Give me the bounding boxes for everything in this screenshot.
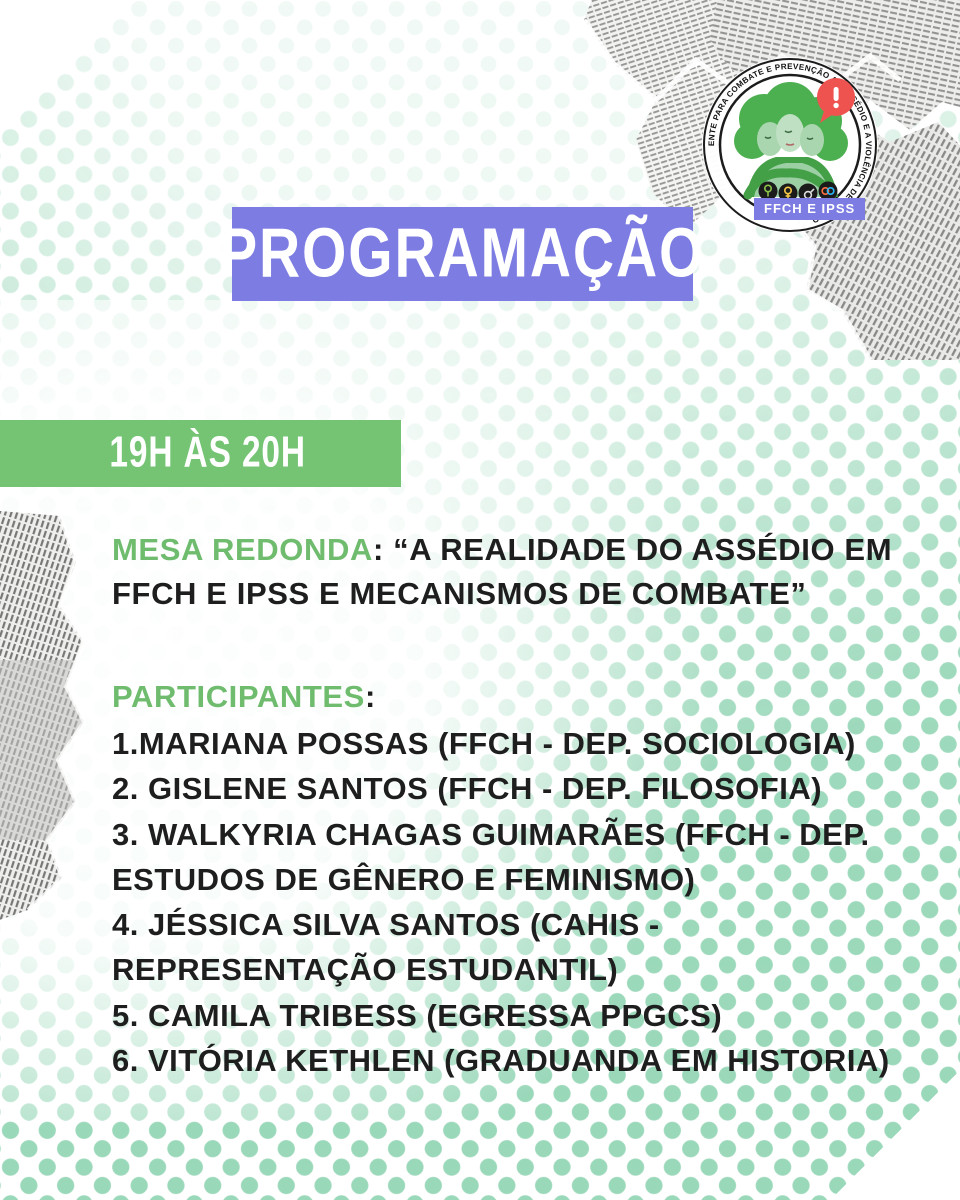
program-content: MESA REDONDA: “A REALIDADE DO ASSÉDIO EM… xyxy=(112,528,912,1083)
newspaper-scrap-left xyxy=(0,510,98,930)
poster-root: COMISSÃO PERMANENTE PARA COMBATE E PREVE… xyxy=(0,0,960,1200)
session-headline: MESA REDONDA: “A REALIDADE DO ASSÉDIO EM… xyxy=(112,528,902,616)
participants-list: 1.MARIANA POSSAS (FFCH - DEP. SOCIOLOGIA… xyxy=(112,721,912,1083)
participants-label: PARTICIPANTES: xyxy=(112,678,912,715)
programacao-title-banner: PROGRAMAÇÃO xyxy=(232,207,693,301)
page-title: PROGRAMAÇÃO xyxy=(219,219,705,288)
seal-ffch-tag: FFCH E IPSS xyxy=(754,198,865,220)
time-banner: 19H ÀS 20H xyxy=(0,420,401,487)
list-item: 1.MARIANA POSSAS (FFCH - DEP. SOCIOLOGIA… xyxy=(112,721,912,766)
mesa-redonda-label: MESA REDONDA: xyxy=(112,532,384,567)
time-label: 19H ÀS 20H xyxy=(109,429,306,478)
list-item: 2. GISLENE SANTOS (FFCH - DEP. FILOSOFIA… xyxy=(112,766,912,811)
list-item: 6. VITÓRIA KETHLEN (GRADUANDA EM HISTORI… xyxy=(112,1038,912,1083)
list-item: 5. CAMILA TRIBESS (EGRESSA PPGCS) xyxy=(112,993,912,1038)
list-item: 3. WALKYRIA CHAGAS GUIMARÃES (FFCH - DEP… xyxy=(112,812,912,903)
list-item: 4. JÉSSICA SILVA SANTOS (CAHIS - REPRESE… xyxy=(112,902,912,993)
